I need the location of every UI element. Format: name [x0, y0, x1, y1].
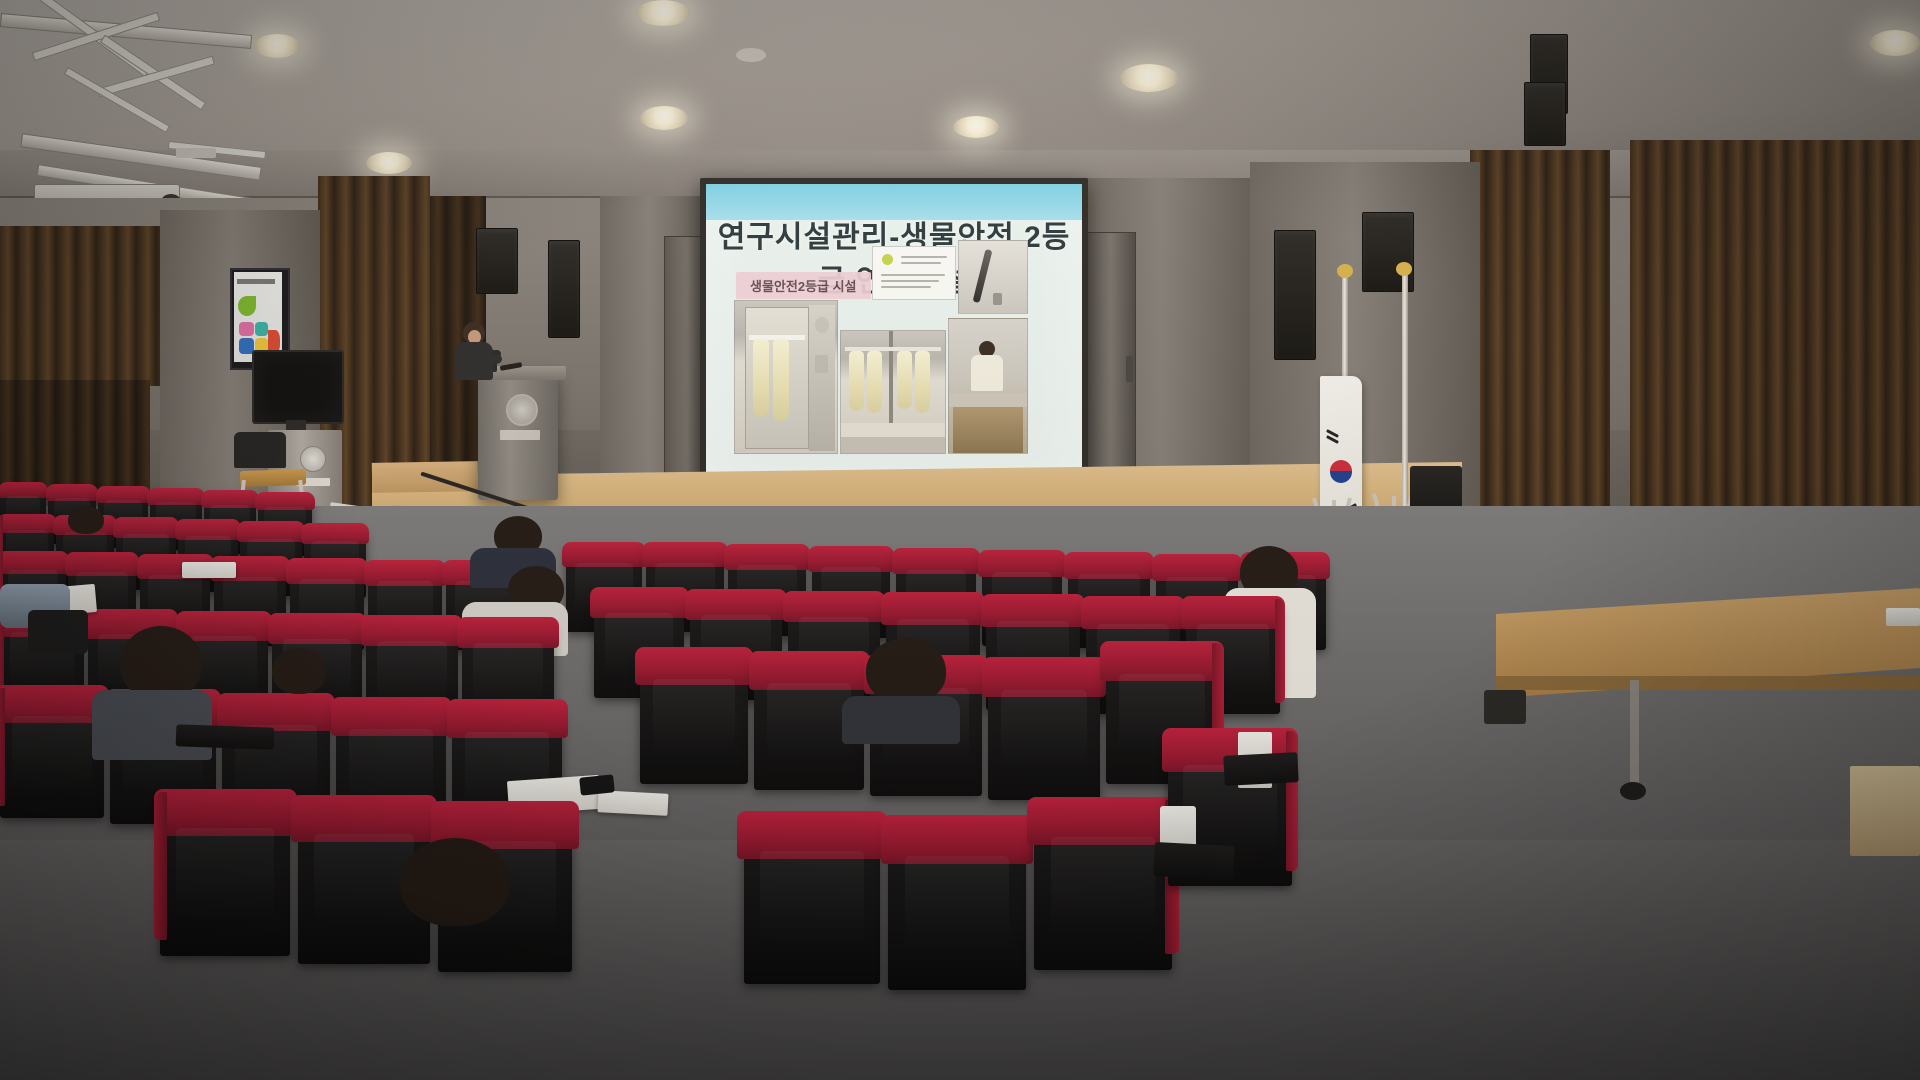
theater-seat[interactable]: [160, 800, 290, 956]
downlight: [640, 106, 688, 130]
downlight: [953, 116, 999, 138]
framed-poster: [234, 272, 282, 362]
locker-shelf: [841, 423, 945, 437]
lab-coat: [849, 351, 864, 411]
podium-nameplate: [500, 430, 540, 440]
folding-chair-back[interactable]: [234, 432, 286, 468]
organization-flag-finial: [1396, 262, 1412, 276]
attendee-papers: [182, 562, 236, 578]
slide-photo-researcher: [948, 318, 1028, 454]
projection-screen: 연구시설관리-생물안전 2등급 연구시설 생물안전2등급 시설: [706, 184, 1082, 492]
downlight: [1120, 64, 1178, 92]
bag-on-seat: [28, 610, 88, 654]
wall-speaker-right: [1274, 230, 1316, 360]
table-item-paper: [1886, 608, 1920, 626]
wall-speaker-edge-lower: [1524, 82, 1566, 146]
seat-highlight: [1051, 837, 1156, 934]
side-table-leg: [1630, 680, 1639, 790]
seat-trim-left: [154, 792, 167, 940]
smartphone[interactable]: [579, 774, 615, 795]
doc-text-line: [901, 262, 941, 264]
instrument-tip: [993, 293, 1002, 305]
seat-trim-left: [0, 688, 5, 806]
bench-equipment: [953, 407, 1023, 453]
theater-seat[interactable]: [744, 822, 880, 984]
slide-photo-lab-coat-locker-left: [734, 300, 838, 454]
lab-coat: [753, 339, 769, 417]
doc-text-line: [881, 286, 931, 288]
seat-highlight: [1001, 690, 1086, 770]
poster-graphic-teal: [255, 322, 268, 336]
attendee-head: [120, 626, 202, 700]
wall-sign: [815, 355, 828, 373]
wood-slat-panel-left: [0, 226, 160, 386]
doc-text-line: [901, 256, 947, 258]
attendee-body: [842, 696, 960, 744]
presenter-arm: [482, 353, 503, 364]
wall-sign: [815, 317, 829, 333]
seat-highlight: [767, 683, 851, 761]
side-table-edge: [1496, 676, 1920, 690]
theater-seat[interactable]: [888, 826, 1026, 990]
attendee-head: [68, 506, 104, 534]
ceiling-smoke-detector: [736, 48, 766, 62]
folding-chair-seat[interactable]: [240, 469, 307, 487]
seat-highlight: [377, 641, 447, 705]
researcher-coat: [971, 355, 1003, 391]
seat-highlight: [473, 643, 543, 707]
seat-highlight: [905, 856, 1010, 954]
wall-speaker-center: [548, 240, 580, 338]
poster-graphic-pink: [239, 322, 254, 336]
downlight: [636, 0, 690, 26]
seat-writing-tablet[interactable]: [1153, 842, 1235, 880]
taegeuk-blue: [1330, 471, 1352, 483]
door-handle[interactable]: [1126, 356, 1133, 382]
lab-coat: [867, 351, 882, 413]
poster-graphic-green: [238, 296, 256, 316]
auditorium-photo: 연구시설관리-생물안전 2등급 연구시설 생물안전2등급 시설: [0, 0, 1920, 1080]
wall-speaker-left: [476, 228, 518, 294]
seat-trim-right: [1275, 599, 1284, 704]
seat-highlight: [12, 716, 91, 790]
attendee-head: [272, 648, 326, 694]
seat-writing-tablet[interactable]: [1223, 752, 1298, 786]
attendee-head: [400, 838, 510, 926]
floor-equipment-case: [1484, 690, 1526, 724]
wood-slat-panel-right: [1470, 150, 1610, 550]
locker-divider: [889, 331, 893, 427]
theater-seat[interactable]: [640, 656, 748, 784]
theater-seat[interactable]: [988, 666, 1100, 800]
slide-photo-certificate: [872, 246, 956, 300]
doc-text-line: [881, 280, 939, 282]
projector-conduit: [176, 148, 216, 158]
locker-base: [841, 437, 945, 453]
theater-seat[interactable]: [0, 694, 104, 818]
slide-photo-lab-coat-locker-center: [840, 330, 946, 454]
slide-photo-instrument: [958, 240, 1028, 314]
theater-seat[interactable]: [1034, 808, 1172, 970]
poster-title-line: [237, 279, 275, 284]
lab-coat: [915, 351, 930, 413]
doc-text-line: [881, 274, 945, 276]
lab-coat: [773, 339, 789, 421]
podium-emblem: [506, 394, 538, 426]
organization-flag-pole: [1402, 272, 1408, 524]
korean-flag-finial: [1337, 264, 1353, 278]
seat-highlight: [653, 679, 735, 756]
downlight: [366, 152, 412, 174]
flat-panel-display: [252, 350, 344, 424]
downlight: [1870, 30, 1920, 56]
doc-seal: [882, 254, 893, 265]
cart-gauge-icon: [300, 446, 326, 472]
slide-section-tag: 생물안전2등급 시설: [736, 272, 871, 299]
lab-coat: [897, 351, 912, 409]
bench-surface: [949, 393, 1027, 407]
seat-highlight: [760, 851, 863, 948]
cardboard-box: [1850, 766, 1920, 856]
seat-highlight: [176, 828, 275, 922]
attendee-head: [866, 638, 946, 704]
attendee-papers: [597, 790, 668, 816]
side-table-caster: [1620, 782, 1646, 800]
downlight: [254, 34, 300, 58]
display-stand: [286, 420, 306, 430]
instrument-probe: [973, 249, 993, 303]
seat-writing-tablet[interactable]: [176, 724, 275, 749]
